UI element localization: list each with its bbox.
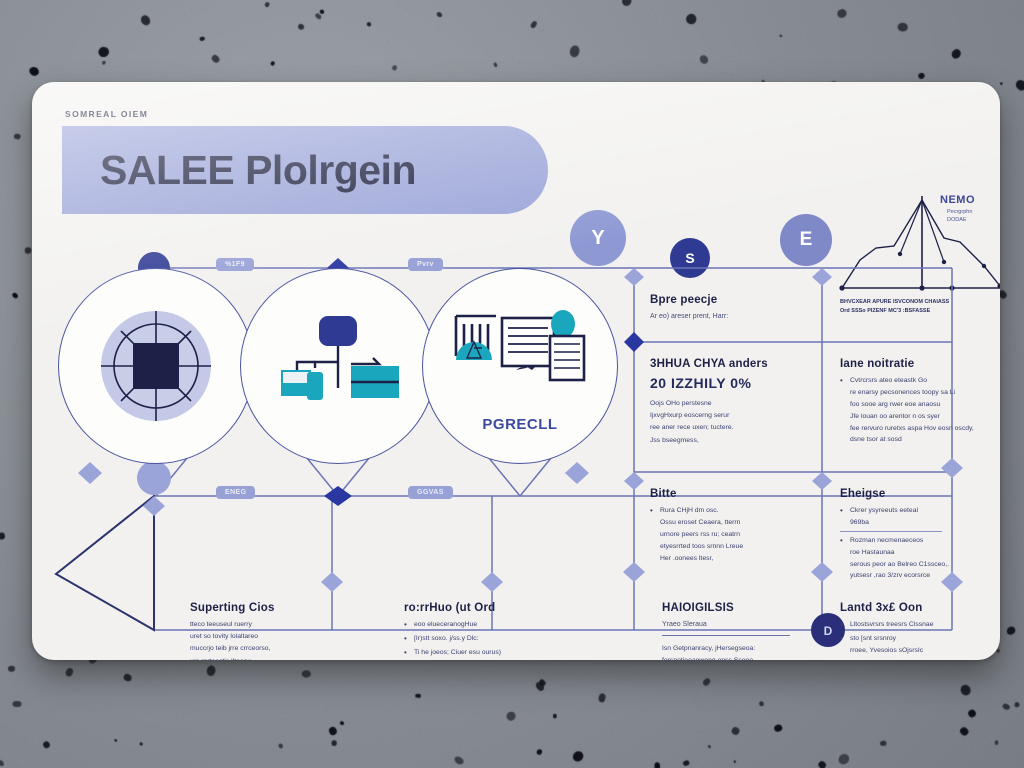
panel-c: Iane noitratie Cvtrcrsrs ateo eteastk Go…	[824, 344, 1000, 472]
list-item: Cvtrcrsrs ateo eteastk Go re enarsy pecs…	[840, 375, 986, 446]
chip-bottom-1[interactable]: ENEG	[216, 486, 255, 499]
panel-h-body: Isn Getpnanracy, jHersegseoa: forsnotiee…	[662, 643, 808, 660]
list-item: Rura CHjH dm osc. Ossu eroset Ceaera, tt…	[650, 505, 806, 564]
panel-c-title: Iane noitratie	[840, 358, 986, 370]
panel-e-title: Eheigse	[840, 488, 986, 500]
circle-hub[interactable]	[58, 268, 254, 464]
panel-d-list: Rura CHjH dm osc. Ossu eroset Ceaera, tt…	[650, 505, 806, 564]
panel-d: Bitte Rura CHjH dm osc. Ossu eroset Ceae…	[634, 474, 822, 584]
panel-g-title: ro:rrHuo (ut Ord	[404, 602, 620, 614]
list-item: eoo elueceranogHue	[404, 619, 620, 631]
panel-a-sub: Ar eo) areser prent, Harr:	[650, 311, 806, 322]
panel-a: Bpre peecje Ar eo) areser prent, Harr:	[634, 280, 822, 342]
circle-docs-caption: PGRECLL	[423, 416, 617, 433]
list-item: sypreuresosreno s . lo saujsnsrnesr ons …	[840, 659, 986, 660]
radial-hub-icon	[91, 301, 221, 431]
list-item: Ti he joeos; Ciuer esu ourus)	[404, 647, 620, 659]
flowchart-icon	[273, 306, 403, 426]
chip-top-2[interactable]: Pvrv	[408, 258, 443, 271]
panel-i: Lantd 3x£ Oon Lltostsvrsrs treesrs Clssn…	[824, 588, 1000, 660]
chip-bottom-2[interactable]: GGVAS	[408, 486, 453, 499]
panel-i-list: Lltostsvrsrs treesrs Clssnae sto [snt sr…	[840, 619, 986, 660]
panel-f-title: Superting Cios	[190, 602, 378, 614]
panel-c-list: Cvtrcrsrs ateo eteastk Go re enarsy pecs…	[840, 375, 986, 446]
panel-h: HAIOIGILSIS Yraeo Sleraua Isn Getpnanrac…	[646, 588, 824, 660]
panel-b-body: Oojs OHo perstesne IjxvgHxurp eoscerng s…	[650, 398, 806, 447]
panel-e-list: Ckrer ysyreeuts eeteal 969ba Rozman necm…	[840, 505, 986, 582]
panel-b-metric: 20 IZZHILY 0%	[650, 375, 806, 391]
chip-top-1[interactable]: %1F9	[216, 258, 254, 271]
list-item: [Ir)stt soxo. j/ss.y Dlc:	[404, 633, 620, 645]
list-item: Lltostsvrsrs treesrs Clssnae	[840, 619, 986, 631]
panel-g: ro:rrHuo (ut Ord eoo elueceranogHue [Ir)…	[388, 588, 636, 660]
divider	[840, 531, 942, 532]
list-item: Rozman necmenaeceos roe Hastaunaa serous…	[840, 535, 986, 583]
infographic-card: SOMREAL OIEM SALEE Plolrgein Y S E NEMO …	[32, 82, 1000, 660]
divider	[662, 635, 790, 636]
panel-a-title: Bpre peecje	[650, 294, 806, 306]
panel-f: Superting Cios tteco teeuseul ruerry ure…	[174, 588, 394, 660]
panel-f-body: tteco teeuseul ruerry uret so tovity lol…	[190, 619, 378, 660]
panel-d-title: Bitte	[650, 488, 806, 500]
list-item: sto [snt srsnroy rroee, Yvesoios sOjsrsI…	[840, 633, 986, 657]
panel-h-sub: Yraeo Sleraua	[662, 619, 808, 630]
panel-h-title: HAIOIGILSIS	[662, 602, 808, 614]
panel-b-title: 3HHUA CHYA anders	[650, 358, 806, 370]
panel-b: 3HHUA CHYA anders 20 IZZHILY 0% Oojs OHo…	[634, 344, 822, 472]
list-item: Ckrer ysyreeuts eeteal 969ba	[840, 505, 986, 529]
panel-e: Eheigse Ckrer ysyreeuts eeteal 969ba Roz…	[824, 474, 1000, 584]
panel-i-title: Lantd 3x£ Oon	[840, 602, 986, 614]
circle-flow[interactable]	[240, 268, 436, 464]
panel-g-list: eoo elueceranogHue [Ir)stt soxo. j/ss.y …	[404, 619, 620, 659]
documents-icon	[450, 302, 590, 412]
circle-docs[interactable]: PGRECLL	[422, 268, 618, 464]
